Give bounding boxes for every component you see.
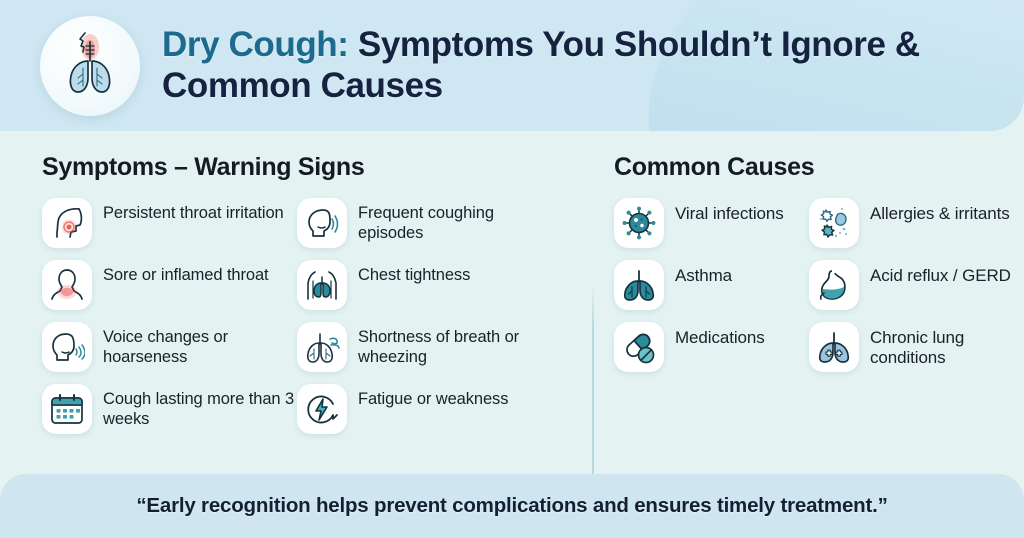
cause-label: Chronic lung conditions [870, 322, 1021, 369]
head-throat-pain-icon [42, 198, 92, 248]
symptom-item-cough-lasting-more-than-3-weeks[interactable]: Cough lasting more than 3 weeks [42, 384, 297, 434]
symptoms-grid: Persistent throat irritation Frequent co… [42, 198, 592, 446]
lungs-throat-icon [59, 30, 121, 101]
virus-icon [614, 198, 664, 248]
lungs-icon [614, 260, 664, 310]
cause-item-acid-reflux-gerd[interactable]: Acid reflux / GERD [809, 260, 1021, 310]
symptom-label: Fatigue or weakness [358, 384, 508, 410]
cause-item-chronic-lung-conditions[interactable]: Chronic lung conditions [809, 322, 1021, 372]
causes-grid: Viral infections [614, 198, 1024, 384]
symptoms-column: Symptoms – Warning Signs P [0, 131, 592, 474]
lungs-wheezing-icon [297, 322, 347, 372]
logo-badge [40, 16, 140, 116]
cause-label: Acid reflux / GERD [870, 260, 1011, 286]
symptom-label: Persistent throat irritation [103, 198, 284, 224]
stomach-icon [809, 260, 859, 310]
footer-quote: “Early recognition helps prevent complic… [136, 494, 887, 518]
symptom-item-chest-tightness[interactable]: Chest tightness [297, 260, 552, 310]
symptom-label: Shortness of breath or wheezing [358, 322, 552, 368]
body-area: Symptoms – Warning Signs P [0, 131, 1024, 474]
symptom-label: Cough lasting more than 3 weeks [103, 384, 297, 430]
cause-label: Viral infections [675, 198, 784, 224]
symptom-item-persistent-throat-irritation[interactable]: Persistent throat irritation [42, 198, 297, 248]
causes-heading: Common Causes [614, 153, 1024, 182]
causes-column: Common Causes [592, 131, 1024, 474]
header-banner: Dry Cough: Symptoms You Shouldn’t Ignore… [0, 0, 1024, 131]
symptom-label: Frequent coughing episodes [358, 198, 552, 244]
cause-label: Medications [675, 322, 765, 348]
neck-inflammation-icon [42, 260, 92, 310]
symptoms-heading: Symptoms – Warning Signs [42, 153, 592, 182]
pollen-allergen-icon [809, 198, 859, 248]
infographic-poster: Dry Cough: Symptoms You Shouldn’t Ignore… [0, 0, 1024, 538]
pills-icon [614, 322, 664, 372]
symptom-item-shortness-of-breath-or-wheezing[interactable]: Shortness of breath or wheezing [297, 322, 552, 372]
lungs-cross-icon [809, 322, 859, 372]
cause-label: Asthma [675, 260, 732, 286]
symptom-item-voice-changes-or-hoarseness[interactable]: Voice changes or hoarseness [42, 322, 297, 372]
symptom-item-frequent-coughing-episodes[interactable]: Frequent coughing episodes [297, 198, 552, 248]
footer-banner: “Early recognition helps prevent complic… [0, 474, 1024, 538]
cause-item-viral-infections[interactable]: Viral infections [614, 198, 809, 248]
cause-item-asthma[interactable]: Asthma [614, 260, 809, 310]
cause-item-medications[interactable]: Medications [614, 322, 809, 372]
symptom-item-sore-or-inflamed-throat[interactable]: Sore or inflamed throat [42, 260, 297, 310]
calendar-icon [42, 384, 92, 434]
cause-label: Allergies & irritants [870, 198, 1010, 224]
lightning-fatigue-icon [297, 384, 347, 434]
head-voice-waves-icon [42, 322, 92, 372]
head-coughing-icon [297, 198, 347, 248]
chest-lungs-icon [297, 260, 347, 310]
symptom-label: Chest tightness [358, 260, 470, 286]
title-accent: Dry Cough: [162, 25, 349, 64]
cause-item-allergies-irritants[interactable]: Allergies & irritants [809, 198, 1021, 248]
symptom-item-fatigue-or-weakness[interactable]: Fatigue or weakness [297, 384, 552, 434]
page-title: Dry Cough: Symptoms You Shouldn’t Ignore… [162, 25, 1024, 107]
symptom-label: Voice changes or hoarseness [103, 322, 297, 368]
symptom-label: Sore or inflamed throat [103, 260, 269, 286]
